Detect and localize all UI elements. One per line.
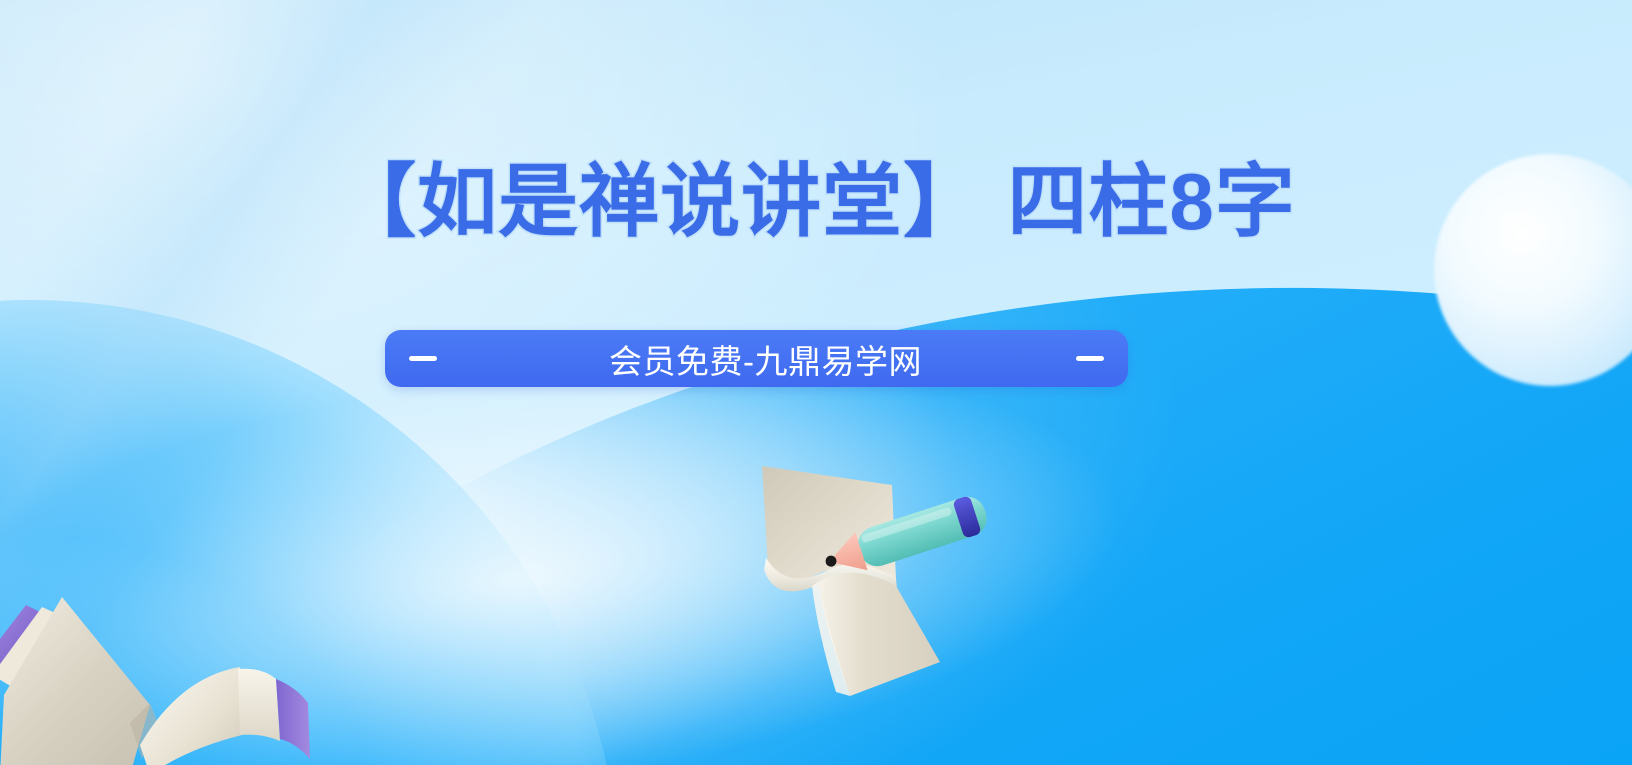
book-cover-right (276, 679, 310, 759)
page-title: 【如是禅说讲堂】 四柱8字 (0, 160, 1632, 244)
book-page-right (140, 667, 242, 765)
dash-left-icon (409, 356, 437, 361)
membership-cta-button[interactable]: 会员免费-九鼎易学网 (385, 330, 1128, 387)
open-book-illustration (0, 545, 390, 765)
paper-and-pencil-illustration (700, 430, 1000, 700)
dash-right-icon (1076, 356, 1104, 361)
book-page-stack-right (238, 669, 280, 741)
membership-cta-label: 会员免费-九鼎易学网 (455, 335, 1076, 383)
promo-banner: 【如是禅说讲堂】 四柱8字 会员免费-九鼎易学网 (0, 0, 1632, 765)
